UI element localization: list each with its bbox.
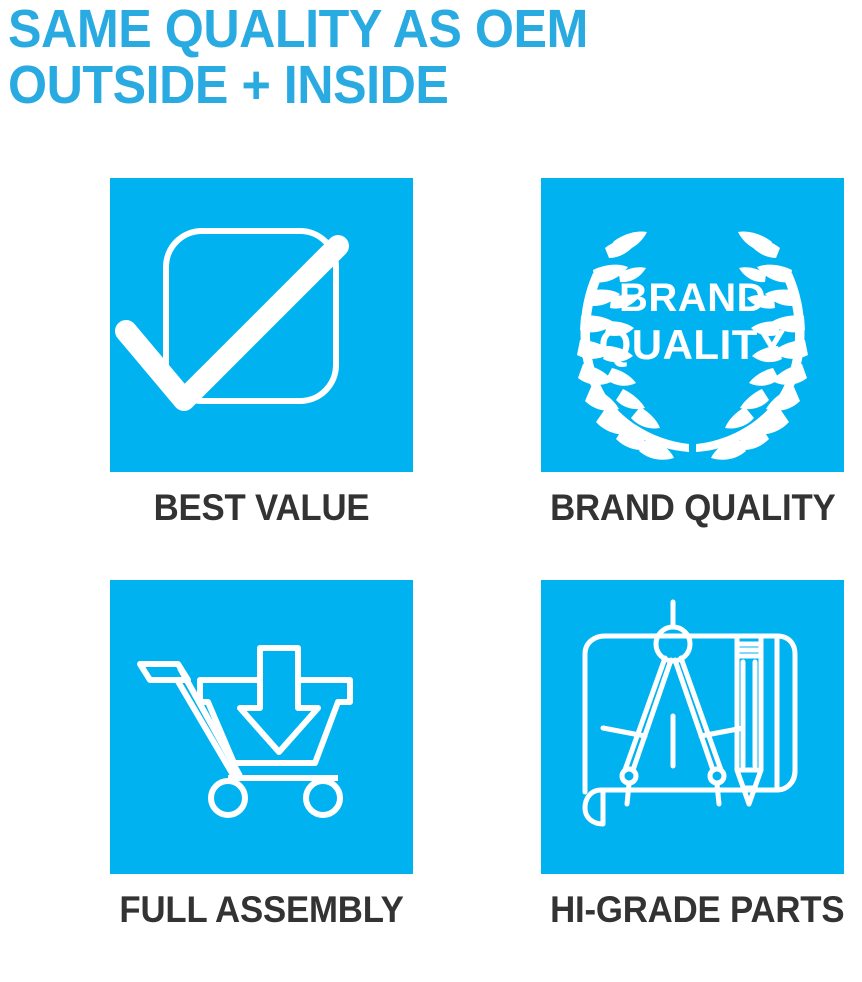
shopping-cart-download-icon: [110, 580, 413, 874]
feature-row-2: FULL ASSEMBLY: [0, 580, 862, 982]
feature-tile-best-value: [110, 178, 413, 472]
download-arrow-icon: [240, 648, 318, 752]
checkmark-box-icon: [110, 178, 413, 472]
laurel-wreath-icon: [541, 178, 844, 472]
feature-label-hi-grade-parts: HI-GRADE PARTS: [550, 888, 835, 932]
headline-line-2: OUTSIDE + INSIDE: [8, 58, 789, 112]
feature-item-brand-quality: BRAND QUALITY BRAND QUALITY: [541, 178, 844, 530]
feature-row-1: BEST VALUE: [0, 178, 862, 580]
feature-tile-brand-quality: BRAND QUALITY: [541, 178, 844, 472]
feature-tile-full-assembly: [110, 580, 413, 874]
feature-grid: BEST VALUE: [0, 178, 862, 982]
feature-label-full-assembly: FULL ASSEMBLY: [119, 888, 404, 932]
feature-tile-hi-grade-parts: [541, 580, 844, 874]
feature-label-brand-quality: BRAND QUALITY: [550, 486, 835, 530]
headline-line-1: SAME QUALITY AS OEM: [8, 2, 789, 56]
headline: SAME QUALITY AS OEM OUTSIDE + INSIDE: [8, 2, 848, 112]
feature-item-best-value: BEST VALUE: [110, 178, 413, 530]
blueprint-compass-pencil-icon: [541, 580, 844, 874]
feature-label-best-value: BEST VALUE: [119, 486, 404, 530]
feature-item-hi-grade-parts: HI-GRADE PARTS: [541, 580, 844, 932]
feature-item-full-assembly: FULL ASSEMBLY: [110, 580, 413, 932]
